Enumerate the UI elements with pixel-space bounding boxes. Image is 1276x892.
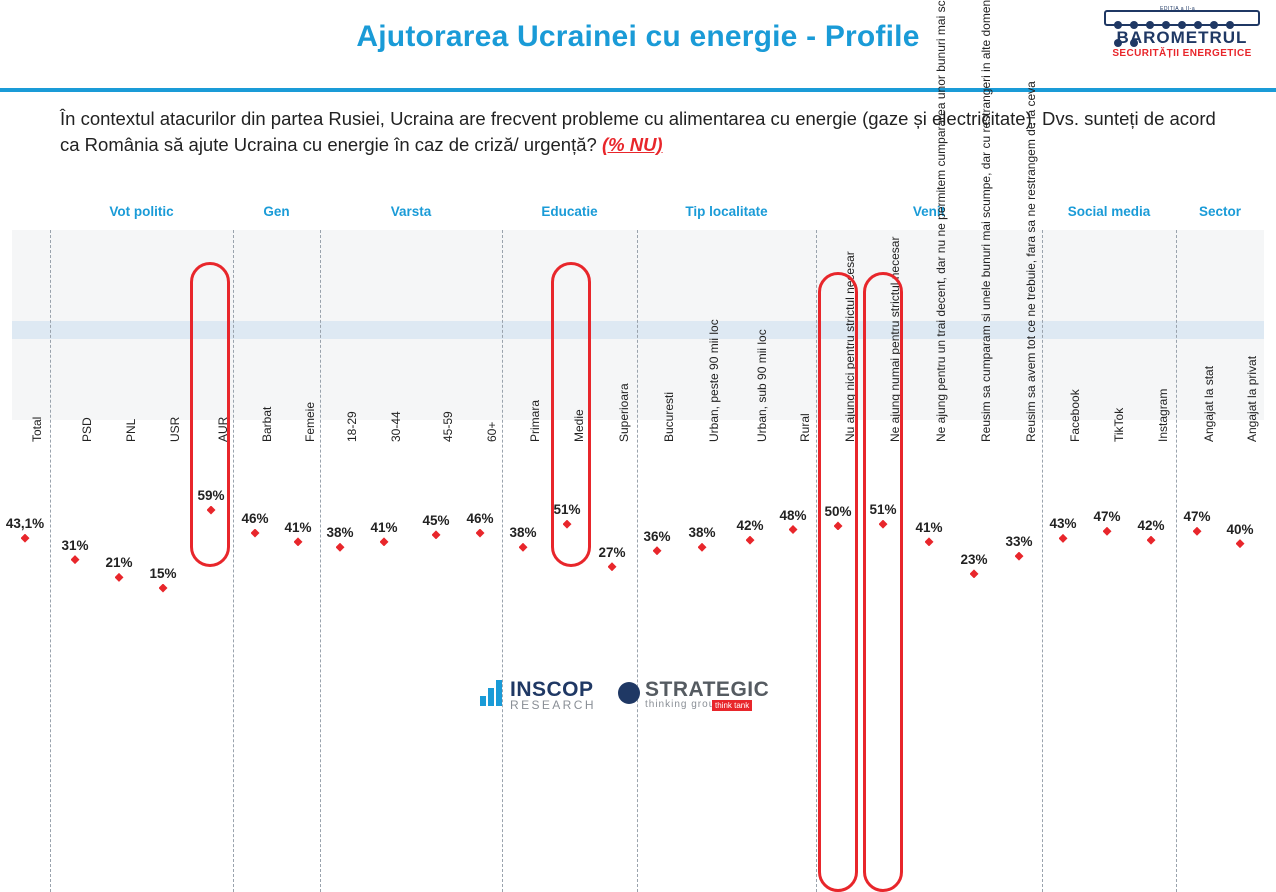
group-label: Venit <box>816 204 1042 220</box>
category-label: Barbat <box>260 407 274 442</box>
data-label: 27% <box>598 545 625 560</box>
strategic-chip: think tank <box>712 700 752 711</box>
data-label: 42% <box>736 518 763 533</box>
data-point <box>746 536 755 545</box>
data-label: 15% <box>149 566 176 581</box>
question-highlight: (% NU) <box>602 134 663 155</box>
inscop-icon <box>480 680 506 706</box>
data-label: 43% <box>1049 516 1076 531</box>
data-label: 46% <box>466 511 493 526</box>
category-label: 45-59 <box>441 411 455 442</box>
group-separator <box>1042 230 1043 892</box>
group-separator <box>50 230 51 892</box>
data-label: 48% <box>779 508 806 523</box>
logo-edition: EDIȚIA a II-a <box>1160 6 1195 12</box>
category-label: PNL <box>124 419 138 442</box>
group-label: Tip localitate <box>637 204 816 220</box>
category-label: Primara <box>528 400 542 442</box>
profile-chart: Vot politicGenVarstaEducatieTip localita… <box>0 192 1276 716</box>
data-label: 43,1% <box>6 516 44 531</box>
inscop-subtitle: RESEARCH <box>510 698 596 712</box>
data-point <box>1147 536 1156 545</box>
data-point <box>336 543 345 552</box>
header-divider <box>0 88 1276 92</box>
data-label: 41% <box>284 520 311 535</box>
data-label: 42% <box>1137 518 1164 533</box>
category-label: PSD <box>80 417 94 442</box>
group-separator <box>502 230 503 892</box>
logo-line2: SECURITĂȚII ENERGETICE <box>1104 48 1260 59</box>
data-point <box>21 534 30 543</box>
category-label: Urban, peste 90 mii loc <box>707 319 721 442</box>
logo-line1: BAROMETRUL <box>1104 28 1260 48</box>
data-label: 41% <box>370 520 397 535</box>
data-label: 36% <box>643 529 670 544</box>
category-label: Femeie <box>303 402 317 442</box>
data-point <box>251 529 260 538</box>
highlight-box <box>863 272 903 892</box>
data-point <box>115 573 124 582</box>
barometrul-logo: EDIȚIA a II-a BAROMETRUL SECURITĂȚII ENE… <box>1104 10 1260 68</box>
data-label: 38% <box>326 525 353 540</box>
data-point <box>294 537 303 546</box>
logo-dots <box>1114 16 1254 24</box>
chart-group-labels: Vot politicGenVarstaEducatieTip localita… <box>0 192 1276 230</box>
data-label: 41% <box>915 520 942 535</box>
category-label: Facebook <box>1068 389 1082 442</box>
data-label: 38% <box>509 525 536 540</box>
category-label: Reusim sa avem tot ce ne trebuie, fara s… <box>1024 81 1038 442</box>
data-point <box>1193 527 1202 536</box>
strategic-subtitle: thinking group <box>645 699 722 710</box>
category-label: Angajat la stat <box>1202 366 1216 442</box>
data-label: 47% <box>1183 509 1210 524</box>
data-point <box>159 584 168 593</box>
group-separator <box>320 230 321 892</box>
category-label: 18-29 <box>345 411 359 442</box>
data-label: 38% <box>688 525 715 540</box>
logo-dot-bar <box>1104 10 1260 26</box>
data-label: 40% <box>1226 522 1253 537</box>
data-point <box>608 562 617 571</box>
highlight-box <box>818 272 858 892</box>
group-separator <box>816 230 817 892</box>
data-label: 46% <box>241 511 268 526</box>
category-label: Ne ajung pentru un trai decent, dar nu n… <box>934 0 948 442</box>
data-point <box>1103 527 1112 536</box>
category-label: 30-44 <box>389 411 403 442</box>
group-label: Varsta <box>320 204 502 220</box>
data-point <box>1015 552 1024 561</box>
category-label: Reusim sa cumparam si unele bunuri mai s… <box>979 0 993 442</box>
data-label: 33% <box>1005 534 1032 549</box>
data-point <box>432 530 441 539</box>
data-label: 23% <box>960 552 987 567</box>
category-label: Total <box>30 417 44 442</box>
category-label: Instagram <box>1156 389 1170 442</box>
category-label: TikTok <box>1112 408 1126 442</box>
page-header: Ajutorarea Ucrainei cu energie - Profile… <box>0 0 1276 88</box>
question-text: În contextul atacurilor din partea Rusie… <box>60 106 1230 158</box>
category-label: Bucuresti <box>662 392 676 442</box>
group-label: Sector <box>1176 204 1264 220</box>
category-label: Angajat la privat <box>1245 356 1259 442</box>
data-point <box>653 546 662 555</box>
data-label: 47% <box>1093 509 1120 524</box>
category-label: Urban, sub 90 mii loc <box>755 329 769 442</box>
group-separator <box>233 230 234 892</box>
category-label: USR <box>168 417 182 442</box>
data-point <box>1236 539 1245 548</box>
category-label: Superioara <box>617 383 631 442</box>
data-label: 45% <box>422 513 449 528</box>
data-point <box>71 555 80 564</box>
data-point <box>1059 534 1068 543</box>
group-label: Vot politic <box>52 204 231 220</box>
data-point <box>519 543 528 552</box>
group-separator <box>637 230 638 892</box>
data-point <box>476 529 485 538</box>
group-label: Gen <box>233 204 320 220</box>
data-point <box>380 537 389 546</box>
data-point <box>925 537 934 546</box>
category-label: 60+ <box>485 422 499 442</box>
strategic-icon <box>618 682 640 704</box>
highlight-box <box>551 262 591 567</box>
data-point <box>789 525 798 534</box>
group-label: Social media <box>1042 204 1176 220</box>
data-label: 21% <box>105 555 132 570</box>
page-title: Ajutorarea Ucrainei cu energie - Profile <box>0 20 1276 54</box>
data-label: 31% <box>61 538 88 553</box>
data-point <box>698 543 707 552</box>
category-label: Rural <box>798 413 812 442</box>
group-separator <box>1176 230 1177 892</box>
group-label: Educatie <box>502 204 637 220</box>
data-point <box>970 569 979 578</box>
highlight-box <box>190 262 230 567</box>
footer-logos: INSCOP RESEARCH STRATEGIC thinking group… <box>480 678 780 716</box>
